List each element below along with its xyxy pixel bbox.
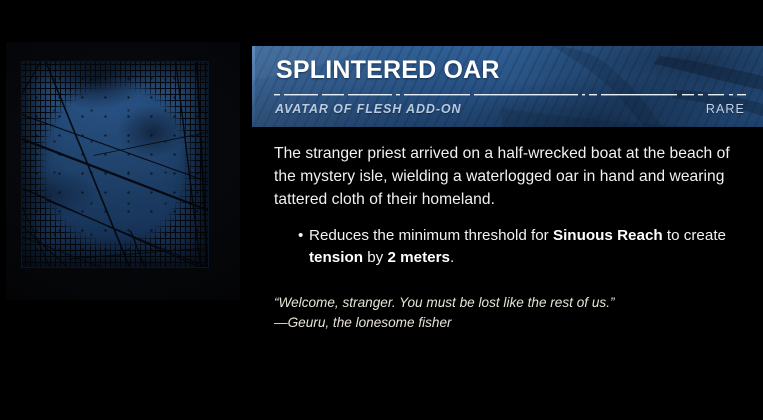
item-body: The stranger priest arrived on a half-wr… — [252, 127, 763, 367]
header-left-accent — [252, 46, 255, 127]
effect-text: to create — [663, 227, 726, 244]
effect-keyword: tension — [309, 249, 363, 266]
item-artwork-thumbnail — [6, 42, 240, 300]
item-effect-row: •Reduces the minimum threshold for Sinuo… — [298, 225, 728, 269]
effect-text: by — [363, 249, 387, 266]
item-title: SPLINTERED OAR — [276, 58, 500, 83]
artwork-vignette — [22, 62, 208, 267]
effect-text: . — [450, 249, 454, 266]
artwork-speckle — [22, 62, 208, 267]
artwork-canvas — [22, 62, 208, 267]
item-subtitle: AVATAR OF FLESH ADD-ON — [275, 102, 461, 116]
item-effects-list: •Reduces the minimum threshold for Sinuo… — [298, 225, 728, 269]
effect-text: Reduces the minimum threshold for — [309, 227, 553, 244]
item-description: The stranger priest arrived on a half-wr… — [274, 142, 741, 211]
effect-keyword: 2 meters — [388, 249, 450, 266]
item-header-banner: SPLINTERED OAR AVATAR OF FLESH ADD- — [252, 46, 763, 127]
artwork-smudge-overlay — [22, 62, 208, 267]
header-divider — [274, 93, 746, 96]
bullet-icon: • — [298, 225, 303, 247]
item-quote-attribution: —Geuru, the lonesome fisher — [274, 313, 734, 333]
item-card: SPLINTERED OAR AVATAR OF FLESH ADD- — [0, 0, 763, 420]
item-quote-block: “Welcome, stranger. You must be lost lik… — [274, 293, 734, 332]
item-quote-text: “Welcome, stranger. You must be lost lik… — [274, 293, 734, 313]
artwork-scratches — [22, 62, 208, 267]
effect-keyword: Sinuous Reach — [553, 227, 663, 244]
item-rarity-badge: RARE — [706, 102, 745, 116]
